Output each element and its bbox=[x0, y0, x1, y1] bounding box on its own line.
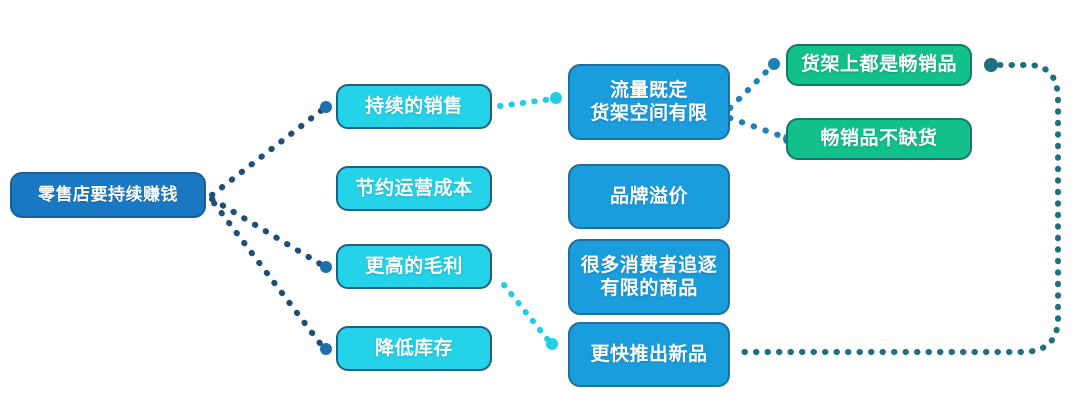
connector-traffic-fixed-to-bestsellers-in-stock bbox=[730, 118, 784, 137]
connector-endpoint-shelf-bestsellers bbox=[768, 58, 780, 70]
node-faster-new-products[interactable]: 更快推出新品 bbox=[568, 322, 730, 387]
node-sustained-sales[interactable]: 持续的销售 bbox=[336, 84, 492, 129]
connector-endpoint-lower-inventory bbox=[320, 343, 332, 355]
node-higher-gross-margin[interactable]: 更高的毛利 bbox=[336, 244, 492, 289]
diagram-canvas: 零售店要持续赚钱 持续的销售 节约运营成本 更高的毛利 降低库存 流量既定 货架… bbox=[0, 0, 1080, 419]
connector-root-to-higher-margin bbox=[212, 199, 322, 265]
connector-traffic-fixed-to-shelf-bestsellers bbox=[730, 68, 770, 108]
node-consumers-chase-limited-goods[interactable]: 很多消费者追逐 有限的商品 bbox=[568, 239, 730, 315]
connector-loop-start-dot bbox=[984, 58, 998, 72]
node-bestsellers-never-out-of-stock[interactable]: 畅销品不缺货 bbox=[786, 118, 972, 160]
connector-endpoint-higher-margin bbox=[320, 261, 332, 273]
node-brand-premium[interactable]: 品牌溢价 bbox=[568, 164, 730, 229]
connector-endpoint-sustained-sales bbox=[320, 101, 332, 113]
node-shelf-all-bestsellers[interactable]: 货架上都是畅销品 bbox=[786, 44, 972, 86]
node-lower-inventory[interactable]: 降低库存 bbox=[336, 326, 492, 371]
node-root[interactable]: 零售店要持续赚钱 bbox=[10, 172, 206, 218]
connector-root-to-sustained-sales bbox=[212, 110, 322, 195]
node-traffic-fixed-shelf-limited[interactable]: 流量既定 货架空间有限 bbox=[568, 64, 730, 140]
connector-higher-margin-to-faster-new-products bbox=[504, 285, 548, 340]
connector-endpoint-traffic-fixed bbox=[550, 92, 562, 104]
connector-shelf-bestsellers-loop-to-faster-new-products bbox=[742, 65, 1058, 352]
connector-endpoint-faster-new-products bbox=[546, 338, 558, 350]
node-save-operating-cost[interactable]: 节约运营成本 bbox=[336, 166, 492, 211]
connector-root-to-lower-inventory bbox=[214, 203, 322, 346]
connector-sustained-sales-to-traffic-fixed bbox=[500, 99, 552, 106]
